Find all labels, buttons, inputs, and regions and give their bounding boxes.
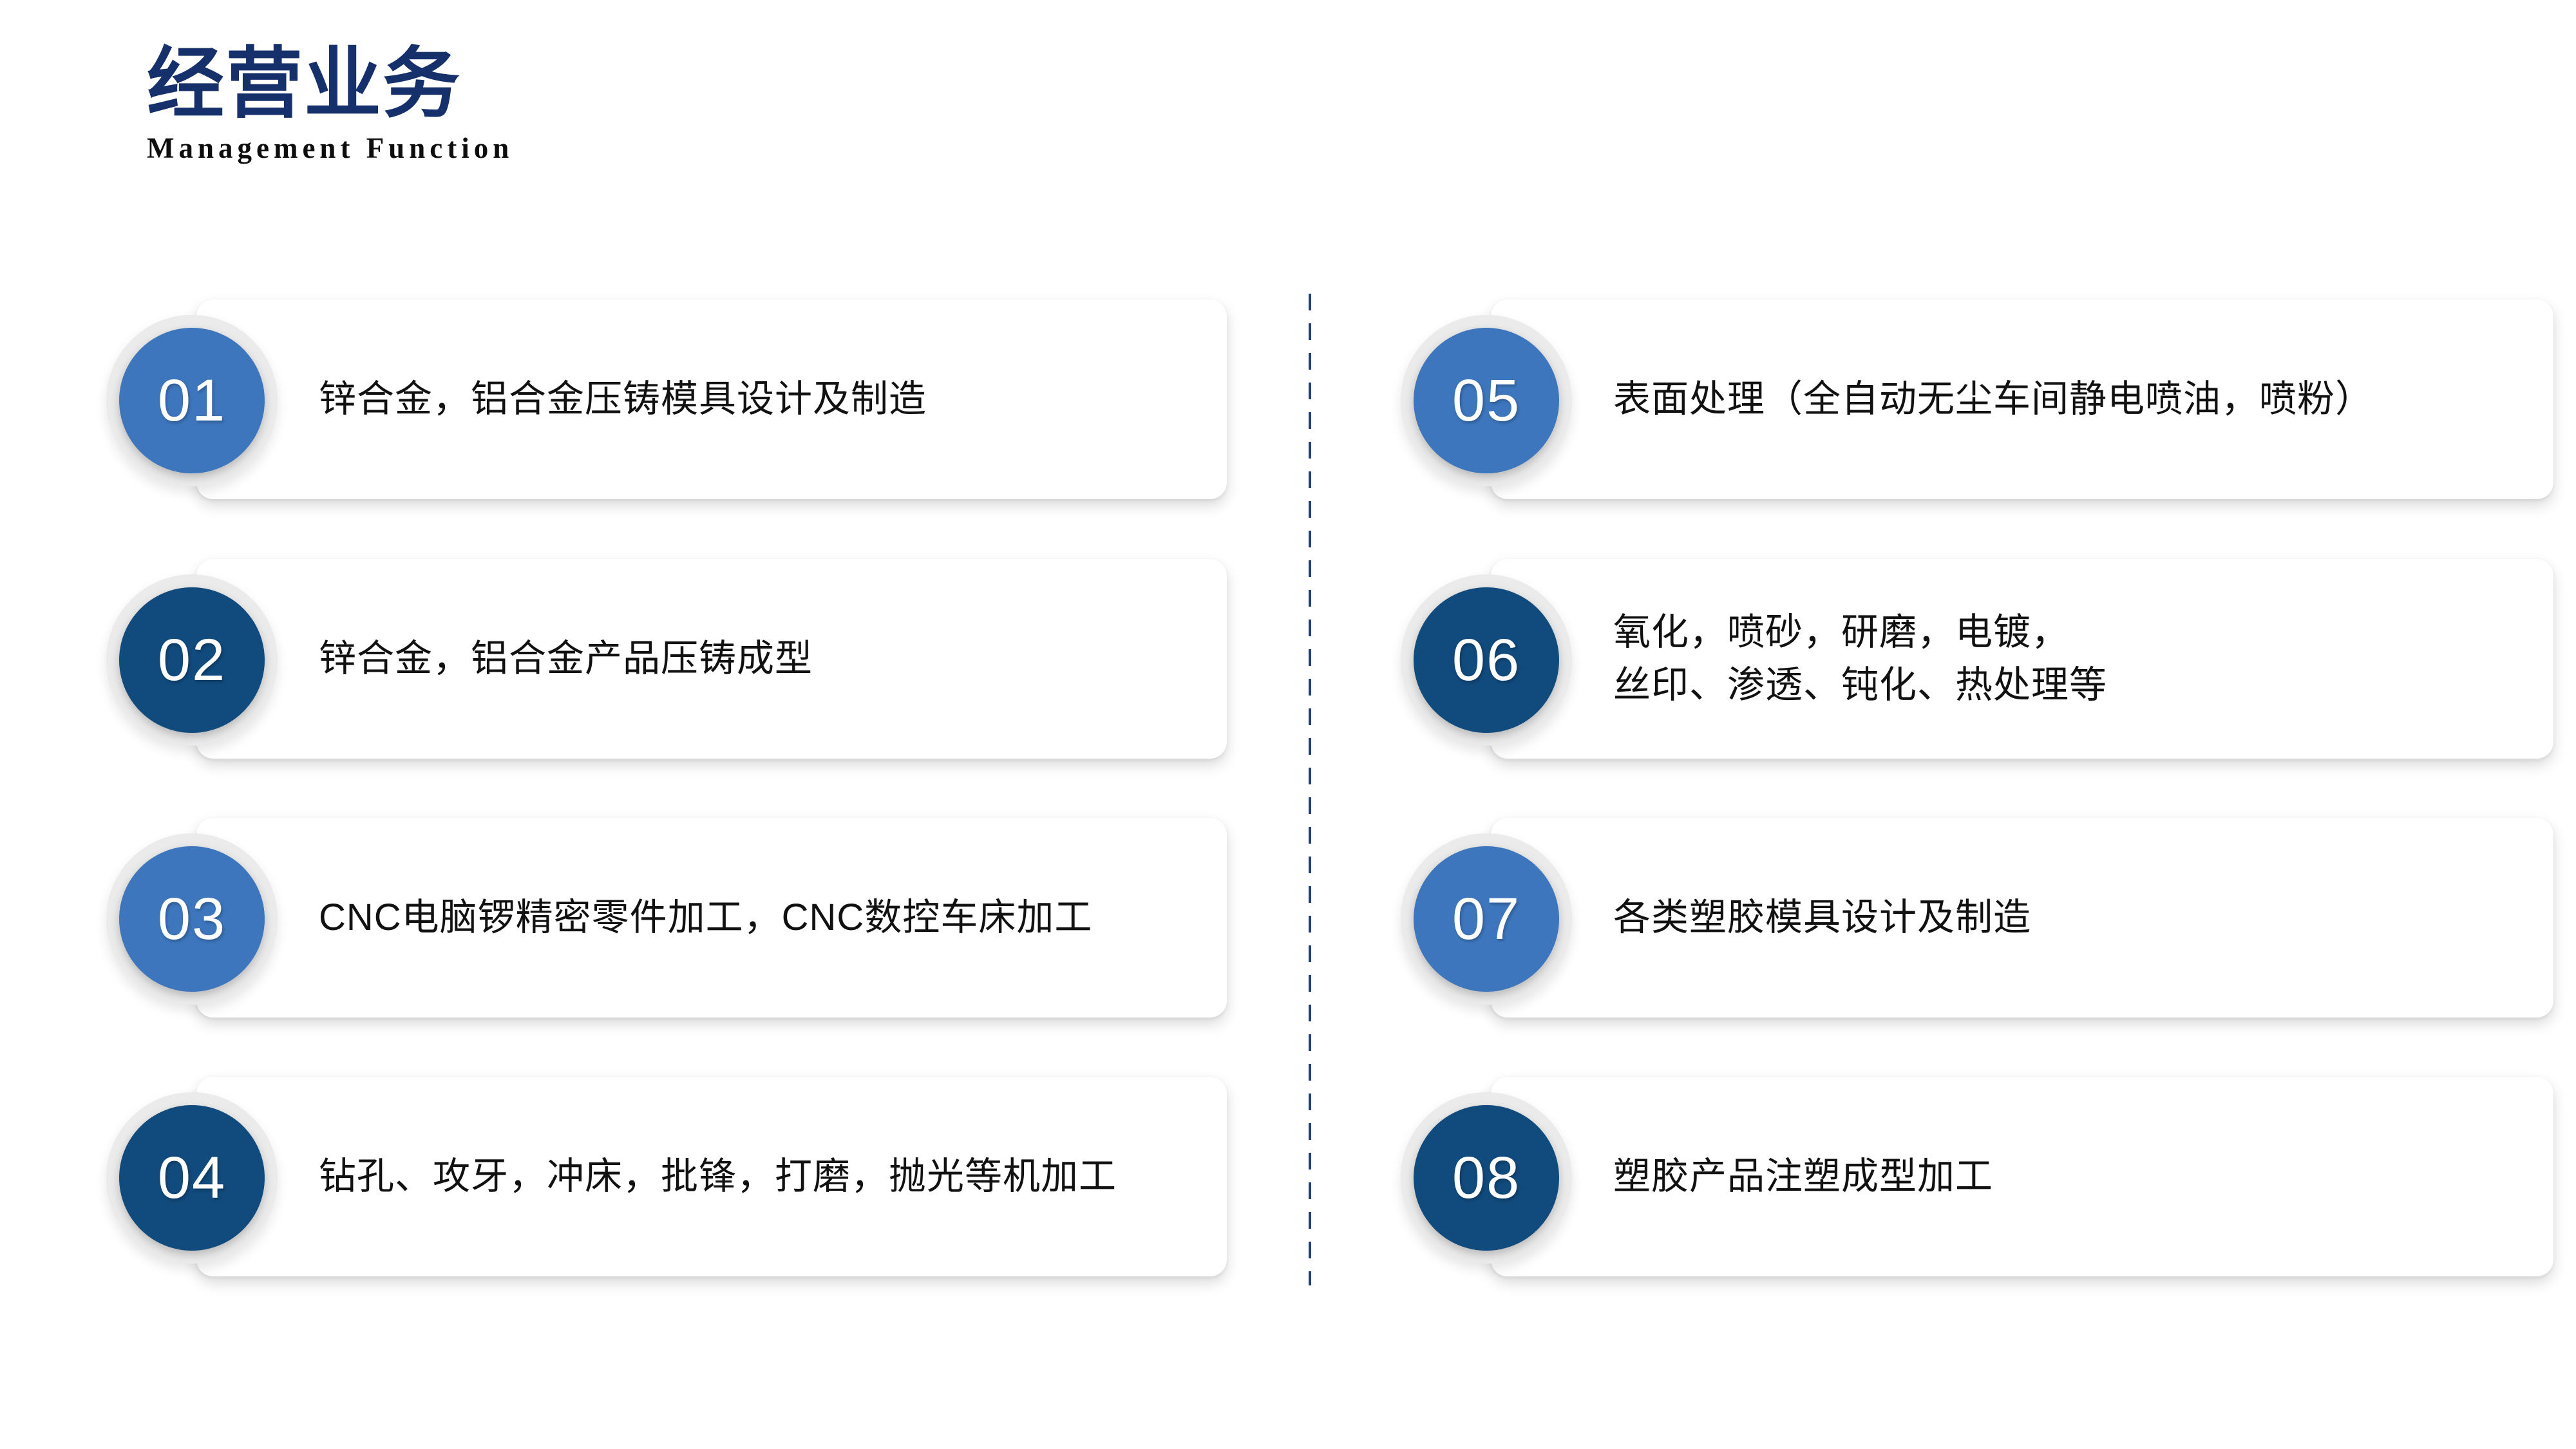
badge-ring: 08 — [1401, 1092, 1572, 1264]
business-item-text: 各类塑胶模具设计及制造 — [1613, 818, 2031, 1018]
business-item-line: 锌合金，铝合金产品压铸成型 — [319, 632, 813, 685]
business-item-line: 塑胶产品注塑成型加工 — [1613, 1150, 1993, 1203]
badge-number: 04 — [158, 1148, 226, 1207]
business-item-text: 表面处理（全自动无尘车间静电喷油，喷粉） — [1613, 299, 2373, 499]
badge-ring: 05 — [1401, 315, 1572, 486]
business-item-07[interactable]: 各类塑胶模具设计及制造 07 — [1401, 818, 2553, 1018]
badge-ring: 06 — [1401, 574, 1572, 746]
business-item-03[interactable]: CNC电脑锣精密零件加工，CNC数控车床加工 03 — [106, 818, 1227, 1018]
badge-circle[interactable]: 03 — [119, 846, 265, 992]
badge-ring: 04 — [106, 1092, 278, 1264]
business-item-text: CNC电脑锣精密零件加工，CNC数控车床加工 — [319, 818, 1092, 1018]
vertical-dashed-divider — [1309, 294, 1311, 1285]
page-subtitle: Management Function — [147, 131, 513, 165]
business-item-04[interactable]: 钻孔、攻牙，冲床，批锋，打磨，抛光等机加工 04 — [106, 1077, 1227, 1276]
business-item-text: 塑胶产品注塑成型加工 — [1613, 1077, 1993, 1276]
page-title: 经营业务 — [147, 45, 513, 122]
business-item-08[interactable]: 塑胶产品注塑成型加工 08 — [1401, 1077, 2553, 1276]
badge-circle[interactable]: 07 — [1414, 846, 1559, 992]
business-item-05[interactable]: 表面处理（全自动无尘车间静电喷油，喷粉） 05 — [1401, 299, 2553, 499]
badge-ring: 01 — [106, 315, 278, 486]
business-item-06[interactable]: 氧化，喷砂，研磨，电镀， 丝印、渗透、钝化、热处理等 06 — [1401, 559, 2553, 759]
business-item-line: 钻孔、攻牙，冲床，批锋，打磨，抛光等机加工 — [319, 1150, 1117, 1203]
badge-circle[interactable]: 06 — [1414, 587, 1559, 733]
business-item-line: 丝印、渗透、钝化、热处理等 — [1613, 659, 2107, 712]
badge-circle[interactable]: 08 — [1414, 1105, 1559, 1251]
badge-circle[interactable]: 04 — [119, 1105, 265, 1251]
page-header: 经营业务 Management Function — [147, 45, 513, 165]
badge-circle[interactable]: 02 — [119, 587, 265, 733]
business-item-line: 氧化，喷砂，研磨，电镀， — [1613, 606, 2107, 659]
badge-number: 07 — [1452, 889, 1520, 949]
badge-number: 08 — [1452, 1148, 1520, 1207]
business-item-text: 氧化，喷砂，研磨，电镀， 丝印、渗透、钝化、热处理等 — [1613, 559, 2107, 759]
badge-ring: 07 — [1401, 833, 1572, 1005]
business-item-text: 钻孔、攻牙，冲床，批锋，打磨，抛光等机加工 — [319, 1077, 1117, 1276]
business-item-01[interactable]: 锌合金，铝合金压铸模具设计及制造 01 — [106, 299, 1227, 499]
business-item-line: 锌合金，铝合金压铸模具设计及制造 — [319, 373, 927, 426]
badge-ring: 03 — [106, 833, 278, 1005]
business-item-text: 锌合金，铝合金压铸模具设计及制造 — [319, 299, 927, 499]
badge-circle[interactable]: 01 — [119, 328, 265, 473]
badge-ring: 02 — [106, 574, 278, 746]
business-item-line: 各类塑胶模具设计及制造 — [1613, 891, 2031, 944]
badge-number: 05 — [1452, 371, 1520, 430]
badge-number: 06 — [1452, 630, 1520, 690]
business-item-line: CNC电脑锣精密零件加工，CNC数控车床加工 — [319, 891, 1092, 944]
badge-number: 01 — [158, 371, 226, 430]
badge-circle[interactable]: 05 — [1414, 328, 1559, 473]
business-item-02[interactable]: 锌合金，铝合金产品压铸成型 02 — [106, 559, 1227, 759]
badge-number: 03 — [158, 889, 226, 949]
business-item-line: 表面处理（全自动无尘车间静电喷油，喷粉） — [1613, 373, 2373, 426]
badge-number: 02 — [158, 630, 226, 690]
business-item-text: 锌合金，铝合金产品压铸成型 — [319, 559, 813, 759]
